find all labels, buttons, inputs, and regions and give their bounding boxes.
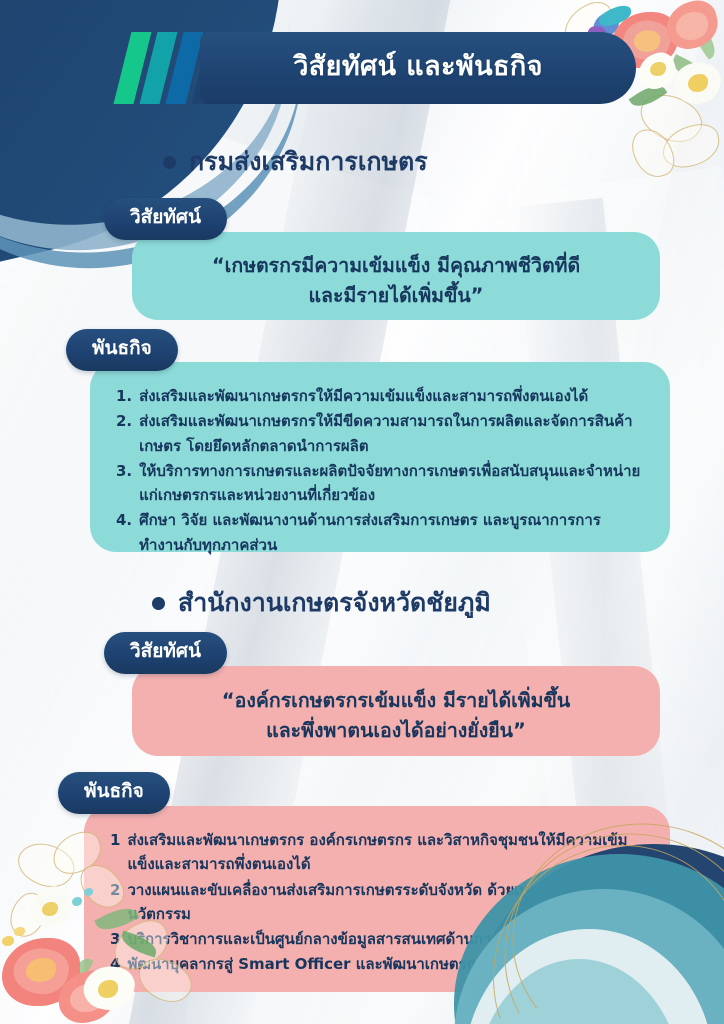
vision-line-2: และมีรายได้เพิ่มขึ้น” (162, 281, 630, 311)
mission-list-department: 1. ส่งเสริมและพัฒนาเกษตรกรให้มีความเข้มแ… (90, 362, 670, 557)
bullet-icon (152, 597, 165, 610)
section-heading-text: กรมส่งเสริมการเกษตร (189, 142, 428, 182)
list-item-text: ศึกษา วิจัย และพัฒนางานด้านการส่งเสริมกา… (139, 508, 642, 557)
teal-bud (72, 897, 82, 906)
vision-box-department: “เกษตรกรมีความเข้มแข็ง มีคุณภาพชีวิตที่ด… (132, 232, 660, 320)
list-item-text: ส่งเสริมและพัฒนาเกษตรกรให้มีขีดความสามาร… (139, 409, 642, 458)
vision-line-2: และพึ่งพาตนเองได้อย่างยั่งยืน” (162, 716, 630, 746)
vision-label-text: วิสัยทัศน์ (130, 636, 201, 670)
list-item-text: ให้บริการทางการเกษตรและผลิตปัจจัยทางการเ… (139, 459, 642, 508)
list-item-number: 3. (116, 459, 132, 508)
page-title: วิสัยทัศน์ และพันธกิจ (293, 44, 543, 92)
vision-line-1: “เกษตรกรมีความเข้มแข็ง มีคุณภาพชีวิตที่ด… (162, 251, 630, 281)
vision-line-1: “องค์กรเกษตรกรเข้มแข็ง มีรายได้เพิ่มขึ้น (162, 686, 630, 716)
header-banner: วิสัยทัศน์ และพันธกิจ (108, 32, 636, 104)
list-item: 3. ให้บริการทางการเกษตรและผลิตปัจจัยทางก… (116, 459, 642, 508)
list-item-number: 4. (116, 508, 132, 557)
poster-canvas: วิสัยทัศน์ และพันธกิจ กรมส่งเสริมการเกษต… (0, 0, 724, 1024)
bottom-right-wave-decoration (424, 744, 724, 1024)
yellow-bud (2, 936, 14, 946)
vision-label-provincial: วิสัยทัศน์ (104, 632, 227, 674)
vision-quote: “องค์กรเกษตรกรเข้มแข็ง มีรายได้เพิ่มขึ้น… (132, 666, 660, 745)
vision-quote: “เกษตรกรมีความเข้มแข็ง มีคุณภาพชีวิตที่ด… (132, 232, 660, 310)
vision-label-department: วิสัยทัศน์ (104, 198, 227, 240)
list-item-number: 1. (116, 384, 132, 408)
mission-box-department: 1. ส่งเสริมและพัฒนาเกษตรกรให้มีความเข้มแ… (90, 362, 670, 552)
mission-label-provincial: พันธกิจ (58, 772, 170, 814)
list-item-text: ส่งเสริมและพัฒนาเกษตรกรให้มีความเข้มแข็ง… (139, 384, 642, 408)
header-bar: วิสัยทัศน์ และพันธกิจ (200, 32, 636, 104)
list-item: 1. ส่งเสริมและพัฒนาเกษตรกรให้มีความเข้มแ… (116, 384, 642, 408)
mission-label-text: พันธกิจ (84, 776, 144, 810)
vision-box-provincial: “องค์กรเกษตรกรเข้มแข็ง มีรายได้เพิ่มขึ้น… (132, 666, 660, 756)
bullet-icon (163, 156, 176, 169)
section-heading-text: สำนักงานเกษตรจังหวัดชัยภูมิ (178, 583, 491, 623)
mission-label-department: พันธกิจ (66, 329, 178, 371)
section-heading-provincial-office: สำนักงานเกษตรจังหวัดชัยภูมิ (152, 583, 491, 623)
list-item: 4. ศึกษา วิจัย และพัฒนางานด้านการส่งเสริ… (116, 508, 642, 557)
list-item: 2. ส่งเสริมและพัฒนาเกษตรกรให้มีขีดความสา… (116, 409, 642, 458)
bottom-left-floral-decoration (0, 824, 215, 1024)
section-heading-department: กรมส่งเสริมการเกษตร (163, 142, 428, 182)
list-item-number: 2. (116, 409, 132, 458)
mission-label-text: พันธกิจ (92, 333, 152, 367)
vision-label-text: วิสัยทัศน์ (130, 202, 201, 236)
